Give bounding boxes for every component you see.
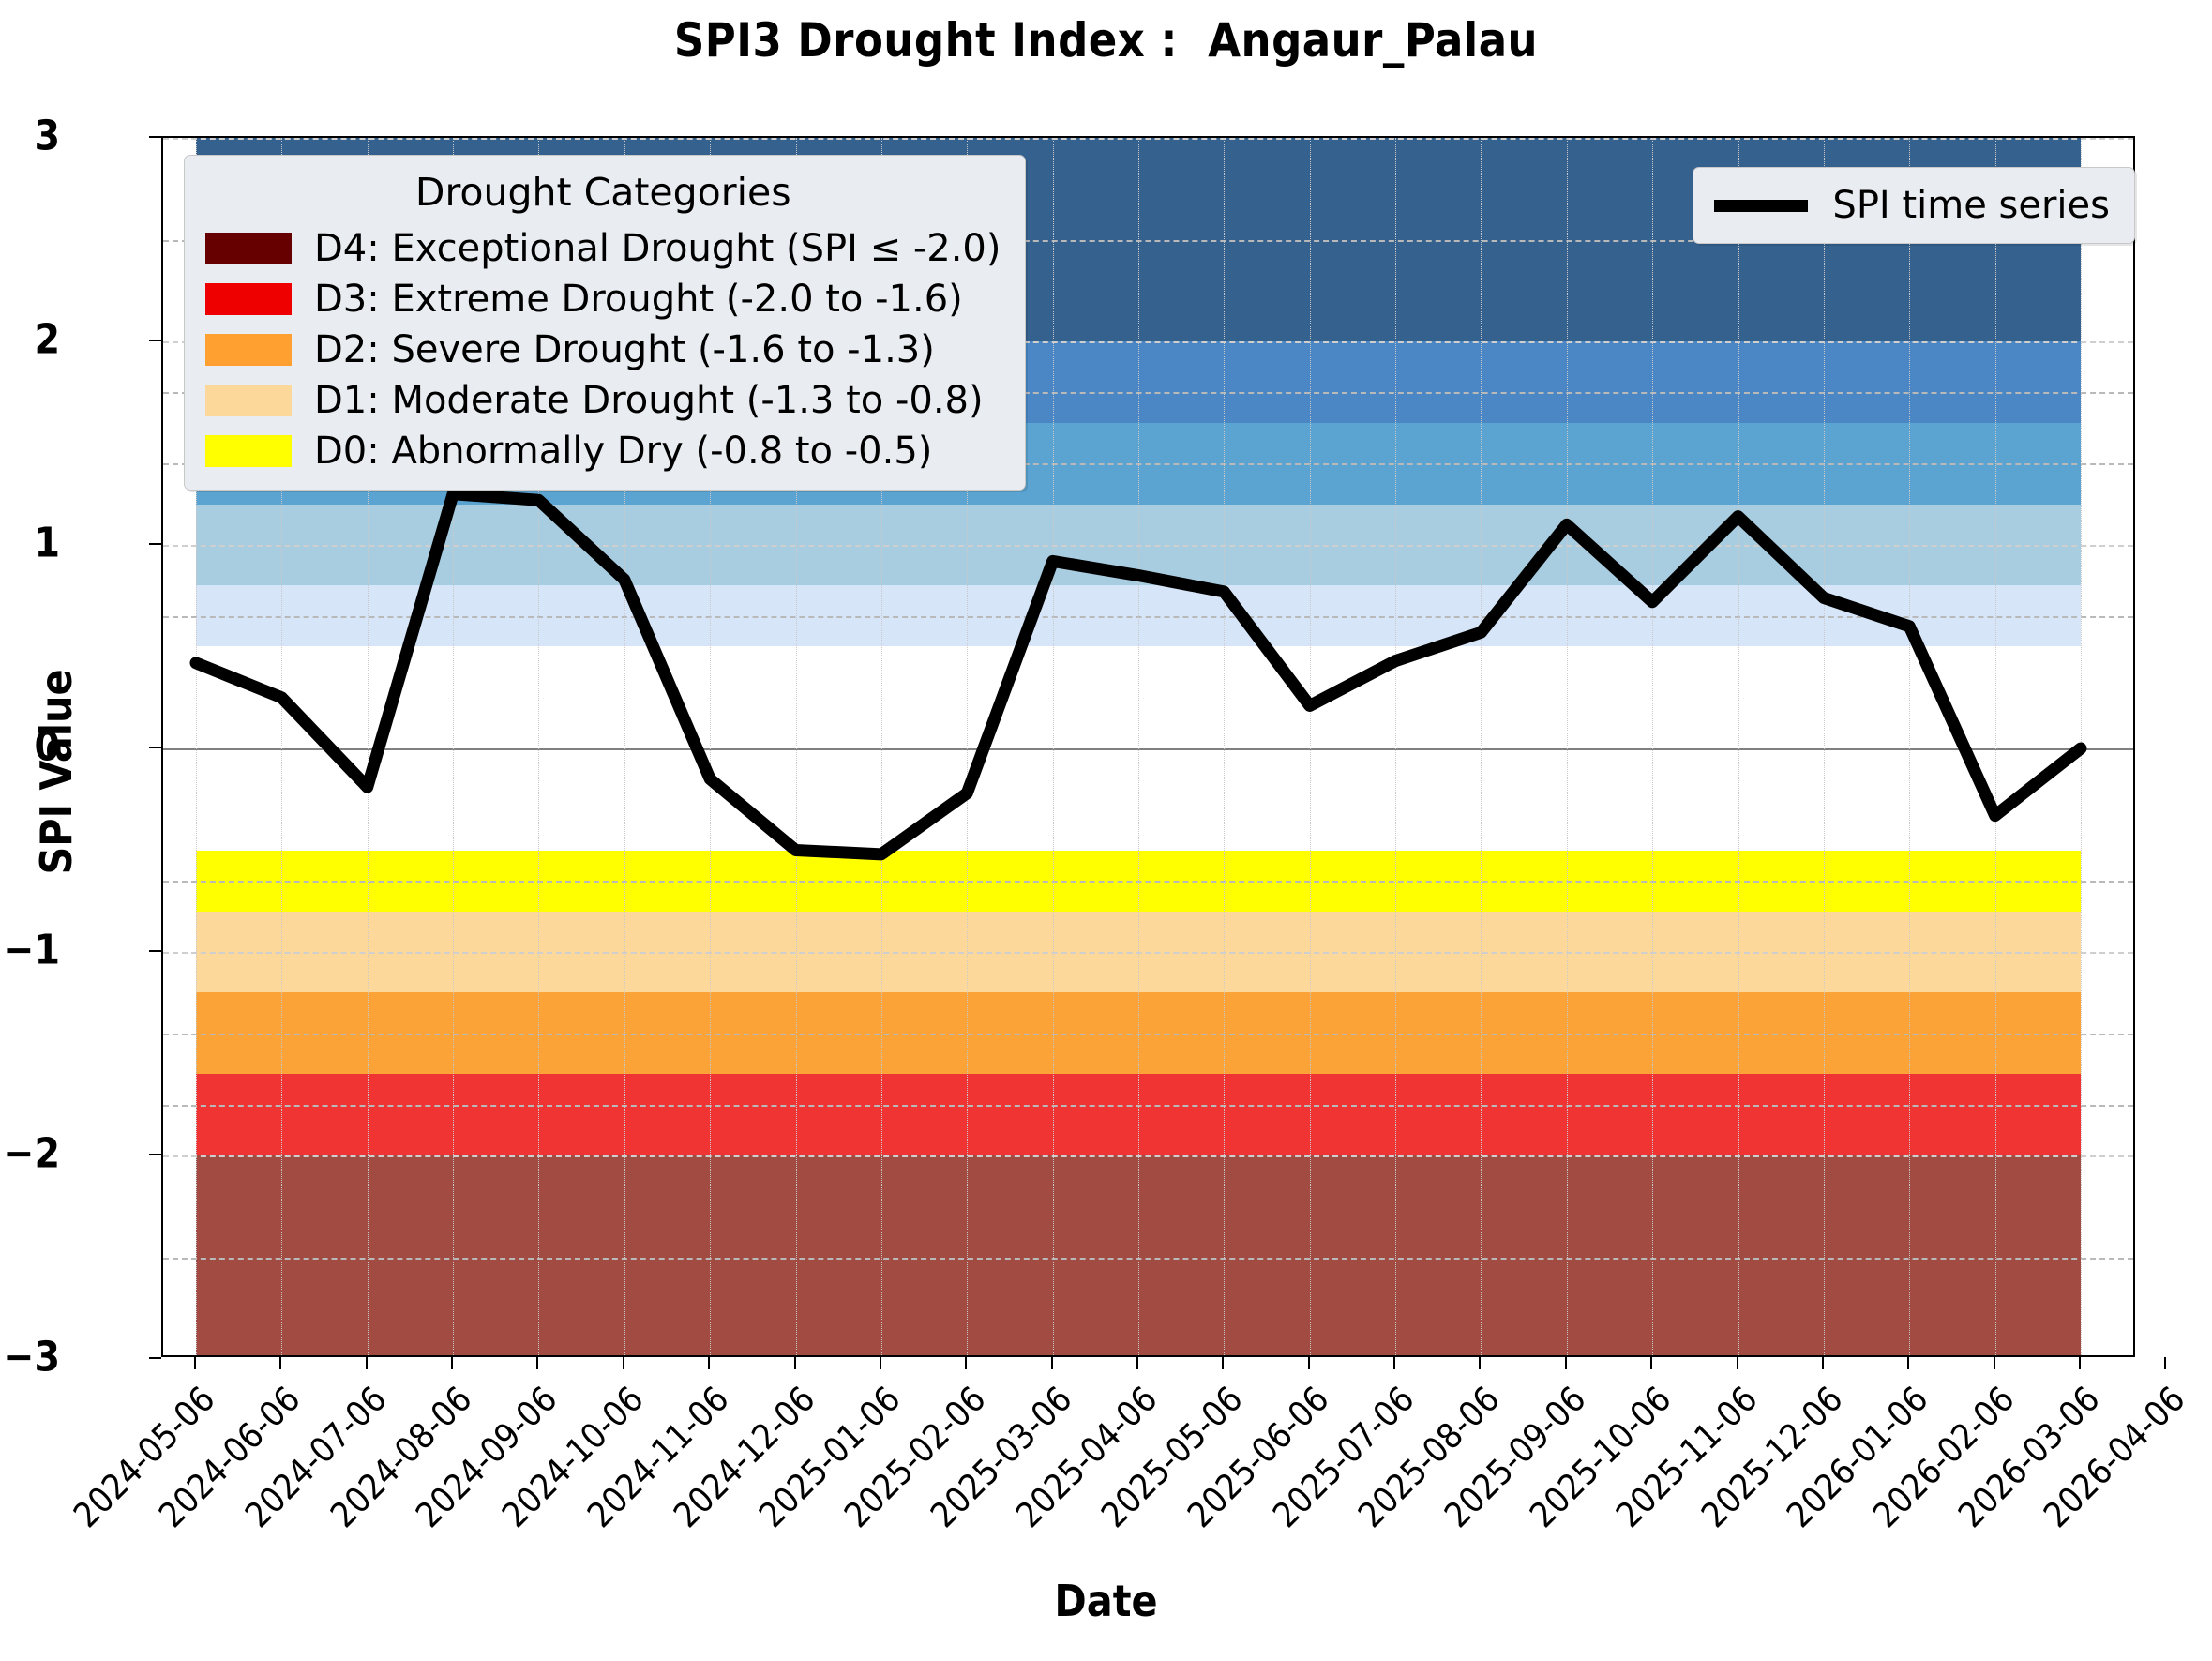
y-tick-mark [149, 950, 161, 952]
y-tick-label: 2 [34, 316, 60, 364]
x-tick-mark [2164, 1357, 2166, 1369]
x-tick-mark [1737, 1357, 1738, 1369]
x-tick-mark [1907, 1357, 1909, 1369]
x-tick-mark [880, 1357, 881, 1369]
legend-title: Drought Categories [205, 165, 1001, 223]
x-tick-mark [1479, 1357, 1481, 1369]
y-tick-label: −1 [3, 927, 60, 974]
x-tick-mark [1308, 1357, 1310, 1369]
legend-swatch-icon [205, 283, 292, 315]
x-tick-mark [708, 1357, 710, 1369]
x-tick-mark [2079, 1357, 2081, 1369]
legend-item-label: D3: Extreme Drought (-2.0 to -1.6) [314, 280, 963, 318]
x-tick-mark [194, 1357, 196, 1369]
x-tick-mark [451, 1357, 453, 1369]
legend-rows: D4: Exceptional Drought (SPI ≤ -2.0)D3: … [205, 223, 1001, 476]
y-axis-label: SPI Value [31, 481, 82, 1063]
x-tick-mark [794, 1357, 796, 1369]
legend-swatch-icon [205, 385, 292, 416]
y-tick-label: 0 [34, 723, 60, 771]
y-tick-label: 3 [34, 113, 60, 160]
legend-series[interactable]: SPI time series [1693, 167, 2135, 244]
legend-item-label: D1: Moderate Drought (-1.3 to -0.8) [314, 382, 984, 419]
y-tick-mark [149, 543, 161, 545]
y-tick-label: 1 [34, 520, 60, 567]
x-tick-mark [1222, 1357, 1224, 1369]
x-tick-mark [1051, 1357, 1053, 1369]
series-path [196, 494, 2081, 854]
x-tick-mark [623, 1357, 624, 1369]
legend-item[interactable]: D1: Moderate Drought (-1.3 to -0.8) [205, 375, 1001, 426]
x-tick-mark [1650, 1357, 1652, 1369]
legend-swatch-icon [205, 334, 292, 366]
x-tick-mark [279, 1357, 281, 1369]
y-tick-mark [149, 136, 161, 138]
legend-swatch-icon [205, 233, 292, 264]
x-tick-mark [366, 1357, 368, 1369]
x-tick-mark [1994, 1357, 1995, 1369]
legend-item[interactable]: D3: Extreme Drought (-2.0 to -1.6) [205, 274, 1001, 325]
legend-drought-categories[interactable]: Drought Categories D4: Exceptional Droug… [184, 155, 1026, 491]
y-tick-mark [149, 1154, 161, 1155]
legend-swatch-icon [205, 435, 292, 467]
x-tick-mark [1822, 1357, 1824, 1369]
x-tick-mark [1565, 1357, 1567, 1369]
x-tick-mark [1136, 1357, 1138, 1369]
legend-line-icon [1714, 200, 1808, 212]
legend-item-label: D0: Abnormally Dry (-0.8 to -0.5) [314, 432, 932, 470]
page-title: SPI3 Drought Index : Angaur_Palau [0, 13, 2212, 68]
x-tick-mark [1393, 1357, 1395, 1369]
legend-item-label: SPI time series [1832, 187, 2110, 224]
legend-rows: SPI time series [1714, 181, 2110, 230]
x-axis-label: Date [0, 1576, 2212, 1626]
legend-item[interactable]: D0: Abnormally Dry (-0.8 to -0.5) [205, 426, 1001, 476]
legend-item[interactable]: D2: Severe Drought (-1.6 to -1.3) [205, 325, 1001, 375]
chart-root: SPI3 Drought Index : Angaur_Palau SPI Va… [0, 0, 2212, 1661]
legend-item[interactable]: SPI time series [1714, 181, 2110, 230]
y-tick-label: −2 [3, 1130, 60, 1178]
y-tick-mark [149, 1357, 161, 1359]
y-tick-label: −3 [3, 1334, 60, 1382]
x-tick-mark [965, 1357, 967, 1369]
legend-item-label: D4: Exceptional Drought (SPI ≤ -2.0) [314, 230, 1001, 267]
x-tick-mark [536, 1357, 538, 1369]
legend-item-label: D2: Severe Drought (-1.6 to -1.3) [314, 331, 935, 369]
y-tick-mark [149, 340, 161, 341]
legend-item[interactable]: D4: Exceptional Drought (SPI ≤ -2.0) [205, 223, 1001, 274]
y-tick-mark [149, 747, 161, 748]
